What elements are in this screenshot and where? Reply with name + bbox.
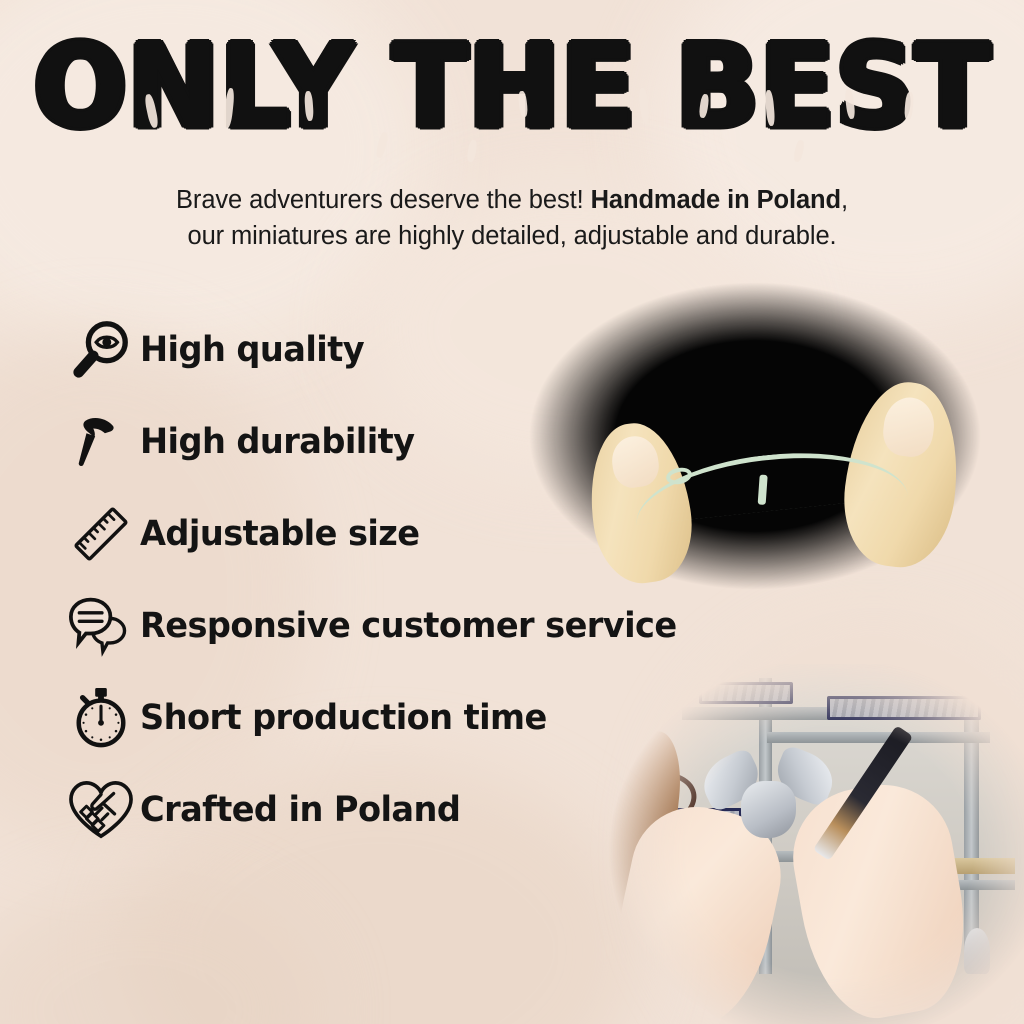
subtitle-prefix: Brave adventurers deserve the best! — [176, 186, 591, 214]
fingernail — [609, 433, 661, 490]
feature-label: Crafted in Poland — [140, 790, 460, 830]
miniature-tray — [699, 682, 793, 704]
bg-blob — [0, 880, 320, 1024]
workshop-painting-photo — [596, 664, 1024, 1024]
feature-label: Short production time — [140, 698, 547, 738]
page-title-wrap: ONLY THE BEST — [0, 36, 1024, 139]
subtitle: Brave adventurers deserve the best! Hand… — [0, 182, 1024, 254]
subtitle-suffix: , — [841, 186, 848, 214]
feature-label: Responsive customer service — [140, 606, 677, 646]
page-title: ONLY THE BEST — [34, 30, 991, 145]
miniature-tray — [827, 696, 981, 720]
shelf-beam — [767, 732, 990, 743]
hammer-icon — [62, 407, 140, 477]
speech-bubbles-icon — [62, 591, 140, 661]
shelf-post — [964, 678, 979, 966]
miniature-body — [741, 781, 796, 838]
magnifier-eye-icon — [62, 315, 140, 385]
feature-label: High durability — [140, 422, 414, 462]
torn-edge-mask — [596, 664, 1024, 1024]
subtitle-line-2: our miniatures are highly detailed, adju… — [0, 218, 1024, 254]
fingernail — [880, 394, 937, 459]
stopwatch-icon — [62, 683, 140, 753]
feature-label: Adjustable size — [140, 514, 420, 554]
feature-label: High quality — [140, 330, 364, 370]
subtitle-line-1: Brave adventurers deserve the best! Hand… — [0, 182, 1024, 218]
small-miniature — [964, 928, 990, 974]
heart-handshake-icon — [62, 775, 140, 845]
ruler-icon — [62, 499, 140, 569]
subtitle-emphasis: Handmade in Poland — [591, 186, 841, 214]
flexible-miniature-photo — [520, 276, 990, 596]
product-feature-poster: ONLY THE BEST Brave adventurers deserve … — [0, 0, 1024, 1024]
